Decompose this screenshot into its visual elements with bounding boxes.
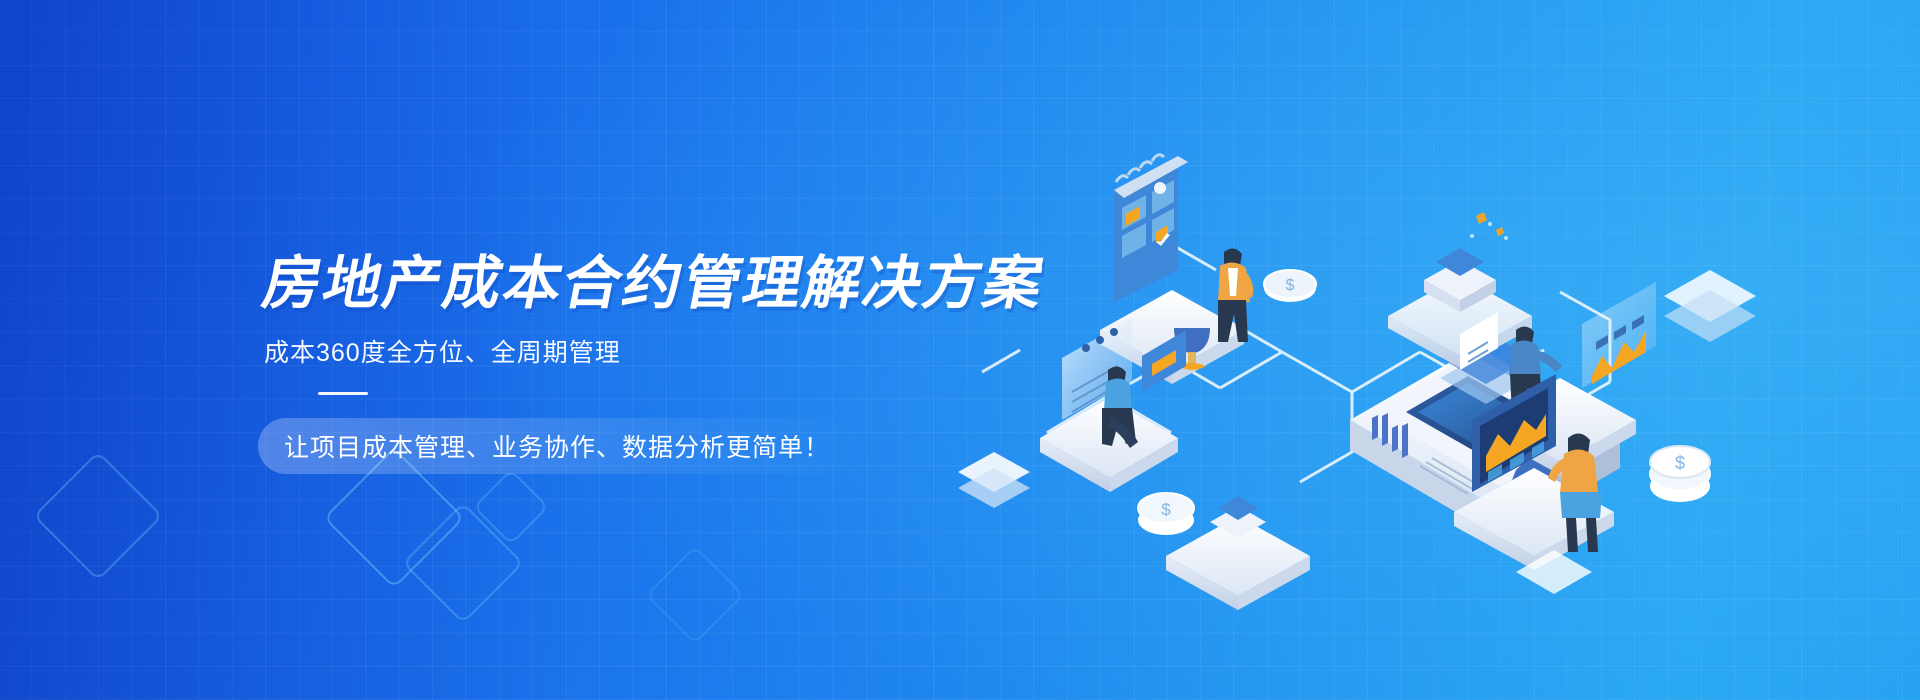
coin-stack-center: $ [1138,493,1194,535]
isometric-illustration: $ [920,120,1920,540]
hero-tagline-text: 让项目成本管理、业务协作、数据分析更简单！ [284,428,830,464]
coin-stack-left: $ [1264,270,1316,302]
svg-text:$: $ [1286,277,1295,294]
glass-chart-panel [1582,282,1656,388]
title-divider [318,392,368,395]
hero-tagline-pill: 让项目成本管理、业务协作、数据分析更简单！ [258,418,870,474]
hero-banner: 房地产成本合约管理解决方案 成本360度全方位、全周期管理 让项目成本管理、业务… [0,0,1920,700]
calendar-board [1114,155,1188,302]
coin-stack-right: $ [1650,446,1710,502]
floating-sheets-left [958,452,1030,508]
svg-text:$: $ [1161,500,1171,519]
floating-sheets-right [1664,270,1756,342]
svg-text:$: $ [1675,453,1685,473]
